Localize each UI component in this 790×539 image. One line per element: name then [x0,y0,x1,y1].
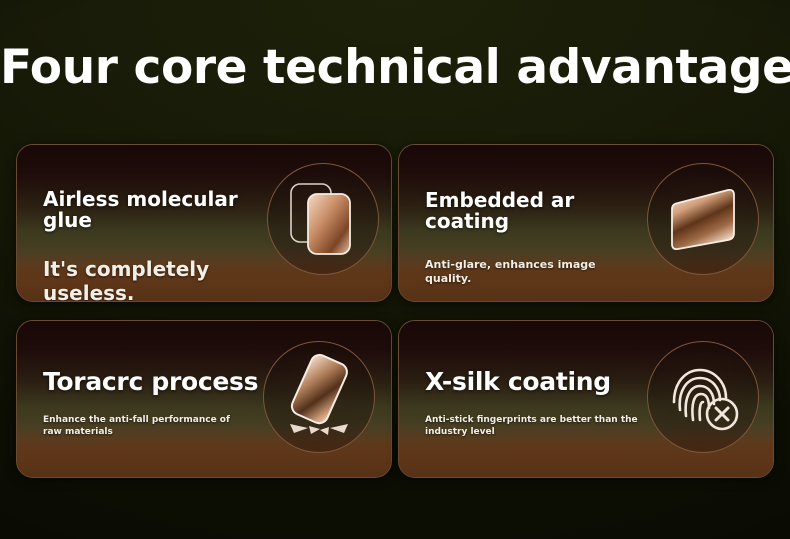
card-text-block: Toracrc process Enhance the anti-fall pe… [43,369,271,439]
tilted-glass-panel-icon [662,183,744,255]
card-subtitle: Anti-glare, enhances image quality. [425,258,610,286]
card-subtitle: Anti-stick fingerprints are better than … [425,415,650,438]
card-text-block: Embedded ar coating Anti-glare, enhances… [425,190,653,286]
phone-drop-impact-icon [278,354,360,440]
card-heading: X-silk coating [425,369,653,395]
advantage-card-airless-molecular-glue[interactable]: Airless molecular glue It's completely u… [16,144,392,302]
icon-medallion [647,163,759,275]
card-text-block: X-silk coating Anti-stick fingerprints a… [425,369,653,439]
icon-medallion [267,163,379,275]
card-heading: Airless molecular glue [43,189,271,231]
advantage-card-x-silk-coating[interactable]: X-silk coating Anti-stick fingerprints a… [398,320,774,478]
advantage-card-embedded-ar-coating[interactable]: Embedded ar coating Anti-glare, enhances… [398,144,774,302]
advantages-poster: Four core technical advantages Airless m… [0,0,790,539]
advantages-grid: Airless molecular glue It's completely u… [16,144,774,479]
advantage-card-toracrc-process[interactable]: Toracrc process Enhance the anti-fall pe… [16,320,392,478]
page-title: Four core technical advantages [0,44,790,91]
card-subtitle: Enhance the anti-fall performance of raw… [43,415,248,438]
icon-medallion [647,341,759,453]
icon-medallion [263,341,375,453]
card-heading: Embedded ar coating [425,190,653,232]
card-heading: Toracrc process [43,369,271,395]
fingerprint-blocked-icon [664,358,742,436]
card-text-block: Airless molecular glue It's completely u… [43,189,271,302]
card-subtitle: It's completely useless. [43,257,271,302]
screen-protector-phone-icon [286,179,360,259]
